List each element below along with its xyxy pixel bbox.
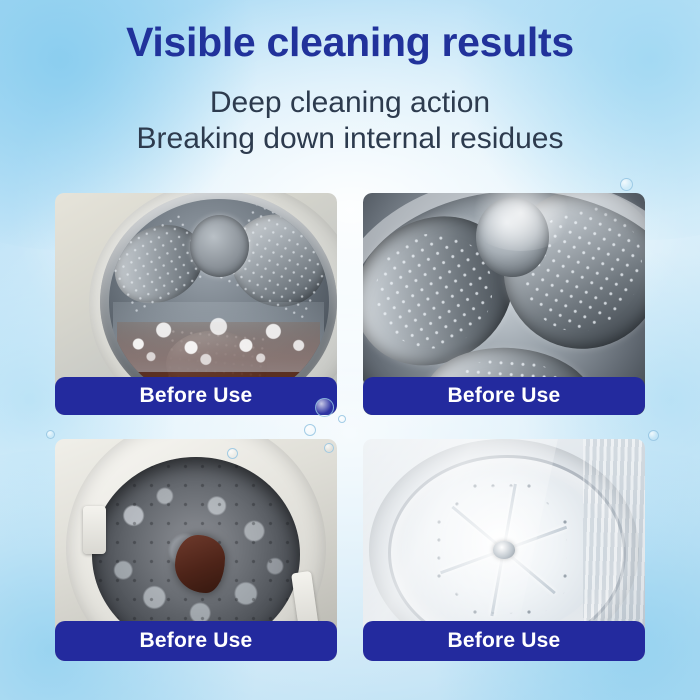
comparison-grid: Before Use Before Use xyxy=(55,193,645,661)
panel-label: Before Use xyxy=(140,629,253,653)
bubble-icon xyxy=(648,430,659,441)
status-badge-top-left: Before Use xyxy=(55,377,337,415)
subtitle-line-1: Deep cleaning action xyxy=(0,86,700,121)
panel-label: Before Use xyxy=(448,384,561,408)
heading-group: Visible cleaning results Deep cleaning a… xyxy=(0,18,700,157)
panel-top-right: Before Use xyxy=(363,193,645,415)
status-badge-bottom-right: Before Use xyxy=(363,621,645,661)
subtitle-line-2: Breaking down internal residues xyxy=(0,122,700,157)
page-title: Visible cleaning results xyxy=(0,18,700,66)
bubble-icon xyxy=(620,178,633,191)
panel-top-left: Before Use xyxy=(55,193,337,415)
product-poster: Visible cleaning results Deep cleaning a… xyxy=(0,0,700,700)
panel-label: Before Use xyxy=(140,384,253,408)
status-badge-bottom-left: Before Use xyxy=(55,621,337,661)
panel-bottom-right: Before Use xyxy=(363,439,645,661)
panel-bottom-left: Before Use xyxy=(55,439,337,661)
status-badge-top-right: Before Use xyxy=(363,377,645,415)
bubble-icon xyxy=(46,430,55,439)
panel-label: Before Use xyxy=(448,629,561,653)
